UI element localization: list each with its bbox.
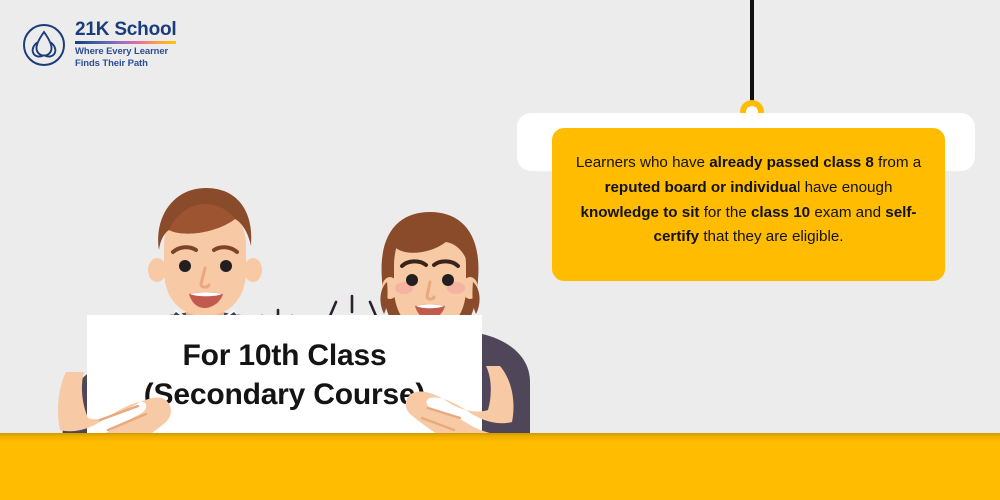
poster-canvas: 21K School Where Every Learner Finds The… — [0, 0, 1000, 500]
connector-line-icon — [750, 0, 754, 112]
callout-text: Learners who have already passed class 8… — [566, 151, 931, 250]
bottom-accent-bar — [0, 433, 1000, 500]
course-banner: For 10th Class (Secondary Course) — [87, 315, 482, 435]
brand-tagline-line1: Where Every Learner — [75, 46, 176, 58]
brand-logo-text: 21K School Where Every Learner Finds The… — [75, 20, 176, 69]
course-banner-text: For 10th Class (Secondary Course) — [144, 336, 425, 414]
course-banner-line1: For 10th Class — [144, 336, 425, 375]
brand-title: 21K School — [75, 20, 176, 40]
brand-tagline-line2: Finds Their Path — [75, 58, 176, 70]
callout-card: Learners who have already passed class 8… — [552, 128, 945, 281]
brand-logo: 21K School Where Every Learner Finds The… — [22, 20, 176, 69]
brand-gradient-rule — [75, 41, 176, 44]
course-banner-line2: (Secondary Course) — [144, 375, 425, 414]
lotus-circle-icon — [22, 23, 66, 67]
